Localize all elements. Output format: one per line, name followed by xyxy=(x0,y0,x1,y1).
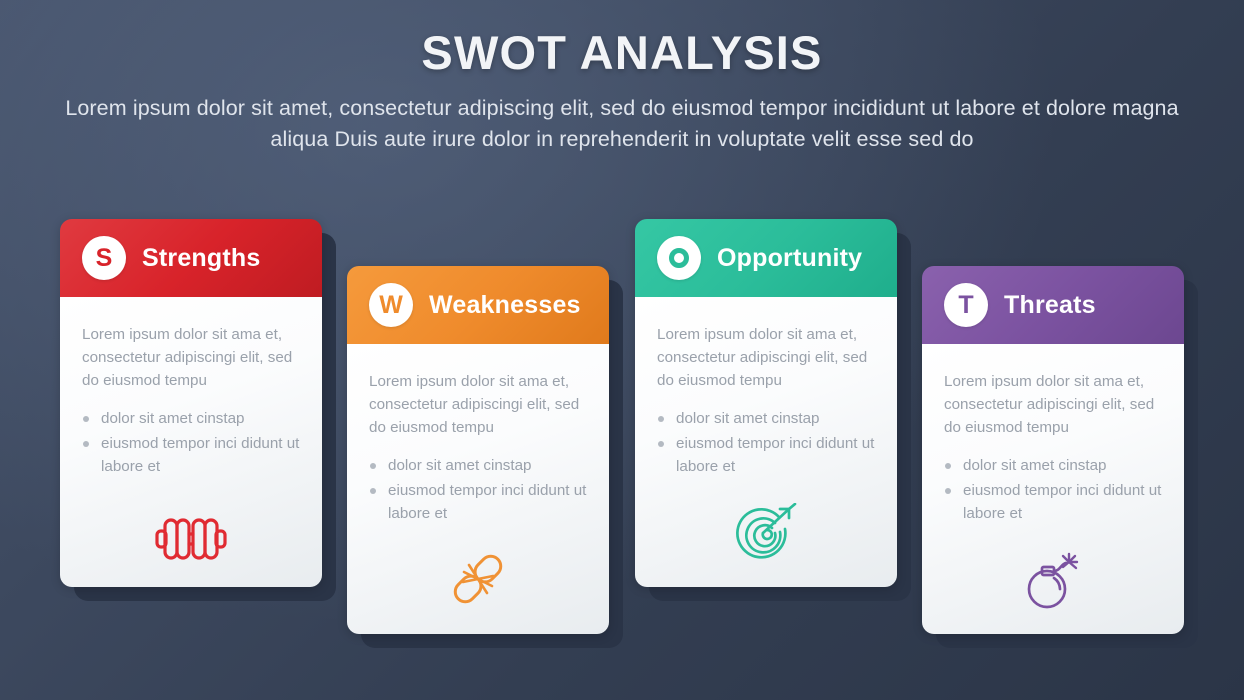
letter-badge-s: S xyxy=(82,236,126,280)
card-description: Lorem ipsum dolor sit ama et, consectetu… xyxy=(944,370,1164,439)
card-header-opportunity: Opportunity xyxy=(635,219,897,297)
list-item: dolor sit amet cinstap xyxy=(82,408,302,431)
card-header-threats: T Threats xyxy=(922,266,1184,344)
card-title: Threats xyxy=(1004,291,1096,320)
letter-badge-t: T xyxy=(944,283,988,327)
card-description: Lorem ipsum dolor sit ama et, consectetu… xyxy=(82,323,302,392)
ring-glyph xyxy=(669,248,689,268)
letter-badge-w: W xyxy=(369,283,413,327)
swot-card-weaknesses[interactable]: W Weaknesses Lorem ipsum dolor sit ama e… xyxy=(347,266,609,634)
card-title: Weaknesses xyxy=(429,291,581,320)
list-item: dolor sit amet cinstap xyxy=(944,455,1164,478)
swot-card-grid: S Strengths Lorem ipsum dolor sit ama et… xyxy=(0,0,1244,700)
card-header-weaknesses: W Weaknesses xyxy=(347,266,609,344)
card-body: Lorem ipsum dolor sit ama et, consectetu… xyxy=(635,297,897,587)
list-item: eiusmod tempor inci didunt ut labore et xyxy=(944,480,1164,526)
card-bullet-list: dolor sit amet cinstap eiusmod tempor in… xyxy=(82,408,302,478)
swot-card-opportunity[interactable]: Opportunity Lorem ipsum dolor sit ama et… xyxy=(635,219,897,587)
card-header-strengths: S Strengths xyxy=(60,219,322,297)
list-item: eiusmod tempor inci didunt ut labore et xyxy=(369,480,589,526)
list-item: dolor sit amet cinstap xyxy=(657,408,877,431)
card-bullet-list: dolor sit amet cinstap eiusmod tempor in… xyxy=(369,455,589,525)
card-body: Lorem ipsum dolor sit ama et, consectetu… xyxy=(922,344,1184,634)
card-body: Lorem ipsum dolor sit ama et, consectetu… xyxy=(347,344,609,634)
broken-chain-icon xyxy=(347,546,609,612)
card-body: Lorem ipsum dolor sit ama et, consectetu… xyxy=(60,297,322,587)
list-item: dolor sit amet cinstap xyxy=(369,455,589,478)
list-item: eiusmod tempor inci didunt ut labore et xyxy=(82,433,302,479)
target-arrow-icon xyxy=(635,503,897,565)
card-title: Opportunity xyxy=(717,244,862,273)
dumbbell-icon xyxy=(60,513,322,565)
swot-card-strengths[interactable]: S Strengths Lorem ipsum dolor sit ama et… xyxy=(60,219,322,587)
card-description: Lorem ipsum dolor sit ama et, consectetu… xyxy=(657,323,877,392)
card-description: Lorem ipsum dolor sit ama et, consectetu… xyxy=(369,370,589,439)
bomb-icon xyxy=(922,550,1184,612)
swot-card-threats[interactable]: T Threats Lorem ipsum dolor sit ama et, … xyxy=(922,266,1184,634)
letter-badge-o xyxy=(657,236,701,280)
list-item: eiusmod tempor inci didunt ut labore et xyxy=(657,433,877,479)
card-bullet-list: dolor sit amet cinstap eiusmod tempor in… xyxy=(657,408,877,478)
card-bullet-list: dolor sit amet cinstap eiusmod tempor in… xyxy=(944,455,1164,525)
card-title: Strengths xyxy=(142,244,260,273)
